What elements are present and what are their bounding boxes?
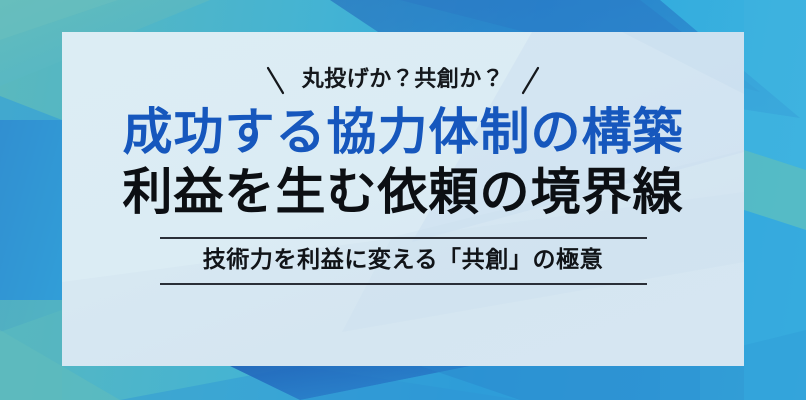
subtitle-block: 技術力を利益に変える「共創」の極意 xyxy=(160,237,647,285)
slash-left-icon xyxy=(266,65,286,95)
kicker: 丸投げか？共創か？ xyxy=(266,63,541,97)
subtitle-text: 技術力を利益に変える「共創」の極意 xyxy=(160,248,647,273)
headline-line-1: 成功する協力体制の構築 xyxy=(123,103,684,163)
title-banner: 丸投げか？共創か？ 成功する協力体制の構築 利益を生む依頼の境界線 技術力を利益… xyxy=(0,0,806,400)
kicker-text: 丸投げか？共創か？ xyxy=(302,69,505,91)
headline-line-2: 利益を生む依頼の境界線 xyxy=(123,163,684,223)
content-card: 丸投げか？共創か？ 成功する協力体制の構築 利益を生む依頼の境界線 技術力を利益… xyxy=(62,32,744,366)
slash-right-icon xyxy=(520,65,540,95)
headline: 成功する協力体制の構築 利益を生む依頼の境界線 xyxy=(123,103,684,222)
